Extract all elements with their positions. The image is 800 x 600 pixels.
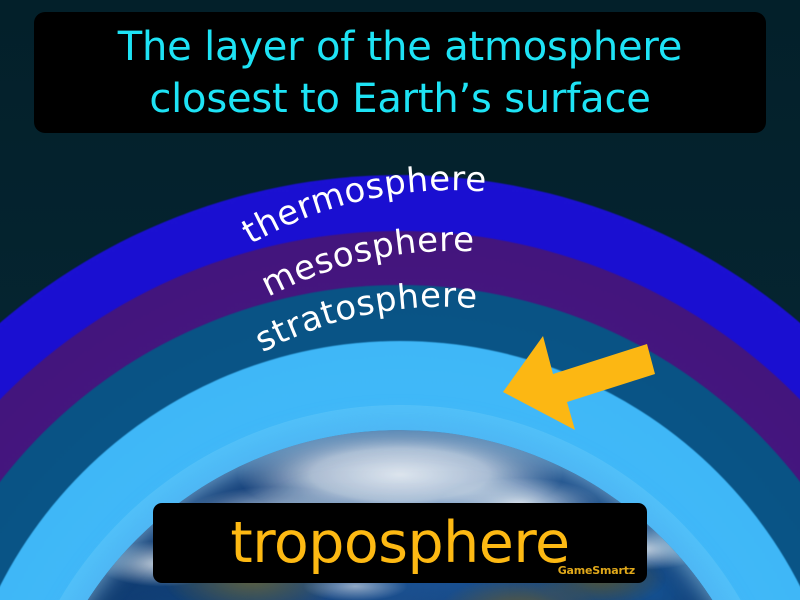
atmosphere-definition-card: thermosphere mesosphere stratosphere The… xyxy=(0,0,800,600)
definition-line-1: The layer of the atmosphere xyxy=(118,21,682,73)
term-banner: troposphere GameSmartz xyxy=(153,503,647,583)
watermark-label: GameSmartz xyxy=(558,564,635,577)
term-label: troposphere xyxy=(230,513,569,573)
pointer-arrow xyxy=(495,330,660,430)
definition-banner: The layer of the atmosphere closest to E… xyxy=(34,12,766,133)
definition-line-2: closest to Earth’s surface xyxy=(149,73,650,125)
arrow-shape xyxy=(503,336,655,430)
